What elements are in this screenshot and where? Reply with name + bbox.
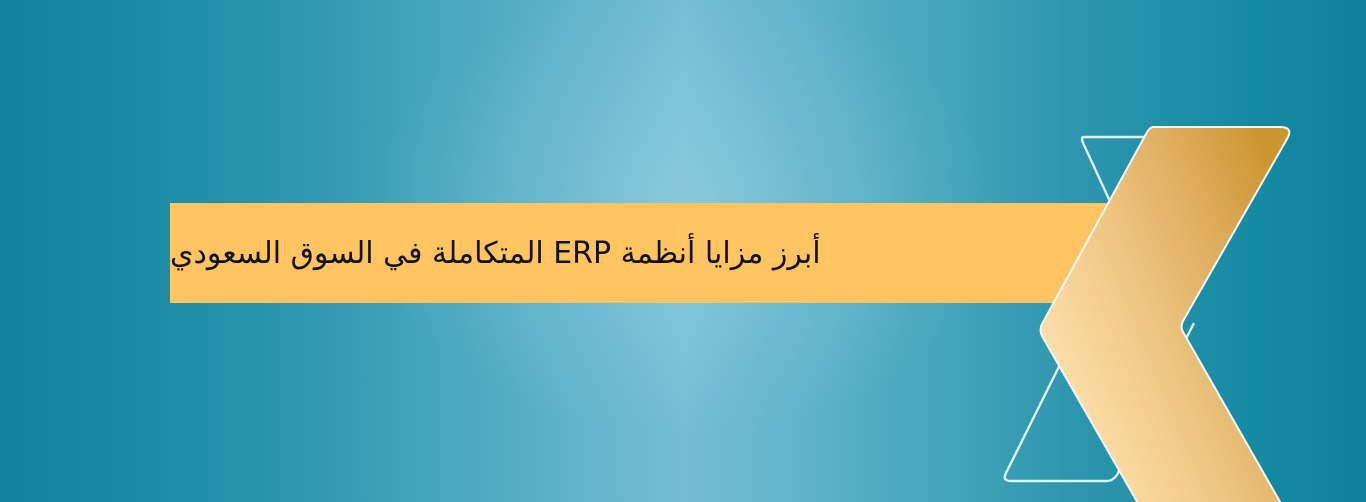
hero-banner: أبرز مزايا أنظمة ERP المتكاملة في السوق …	[0, 0, 1366, 502]
banner-title: أبرز مزايا أنظمة ERP المتكاملة في السوق …	[170, 203, 1105, 303]
banner-title-label: أبرز مزايا أنظمة ERP المتكاملة في السوق …	[170, 236, 821, 271]
x-logo-gold-chevron	[1041, 126, 1293, 502]
